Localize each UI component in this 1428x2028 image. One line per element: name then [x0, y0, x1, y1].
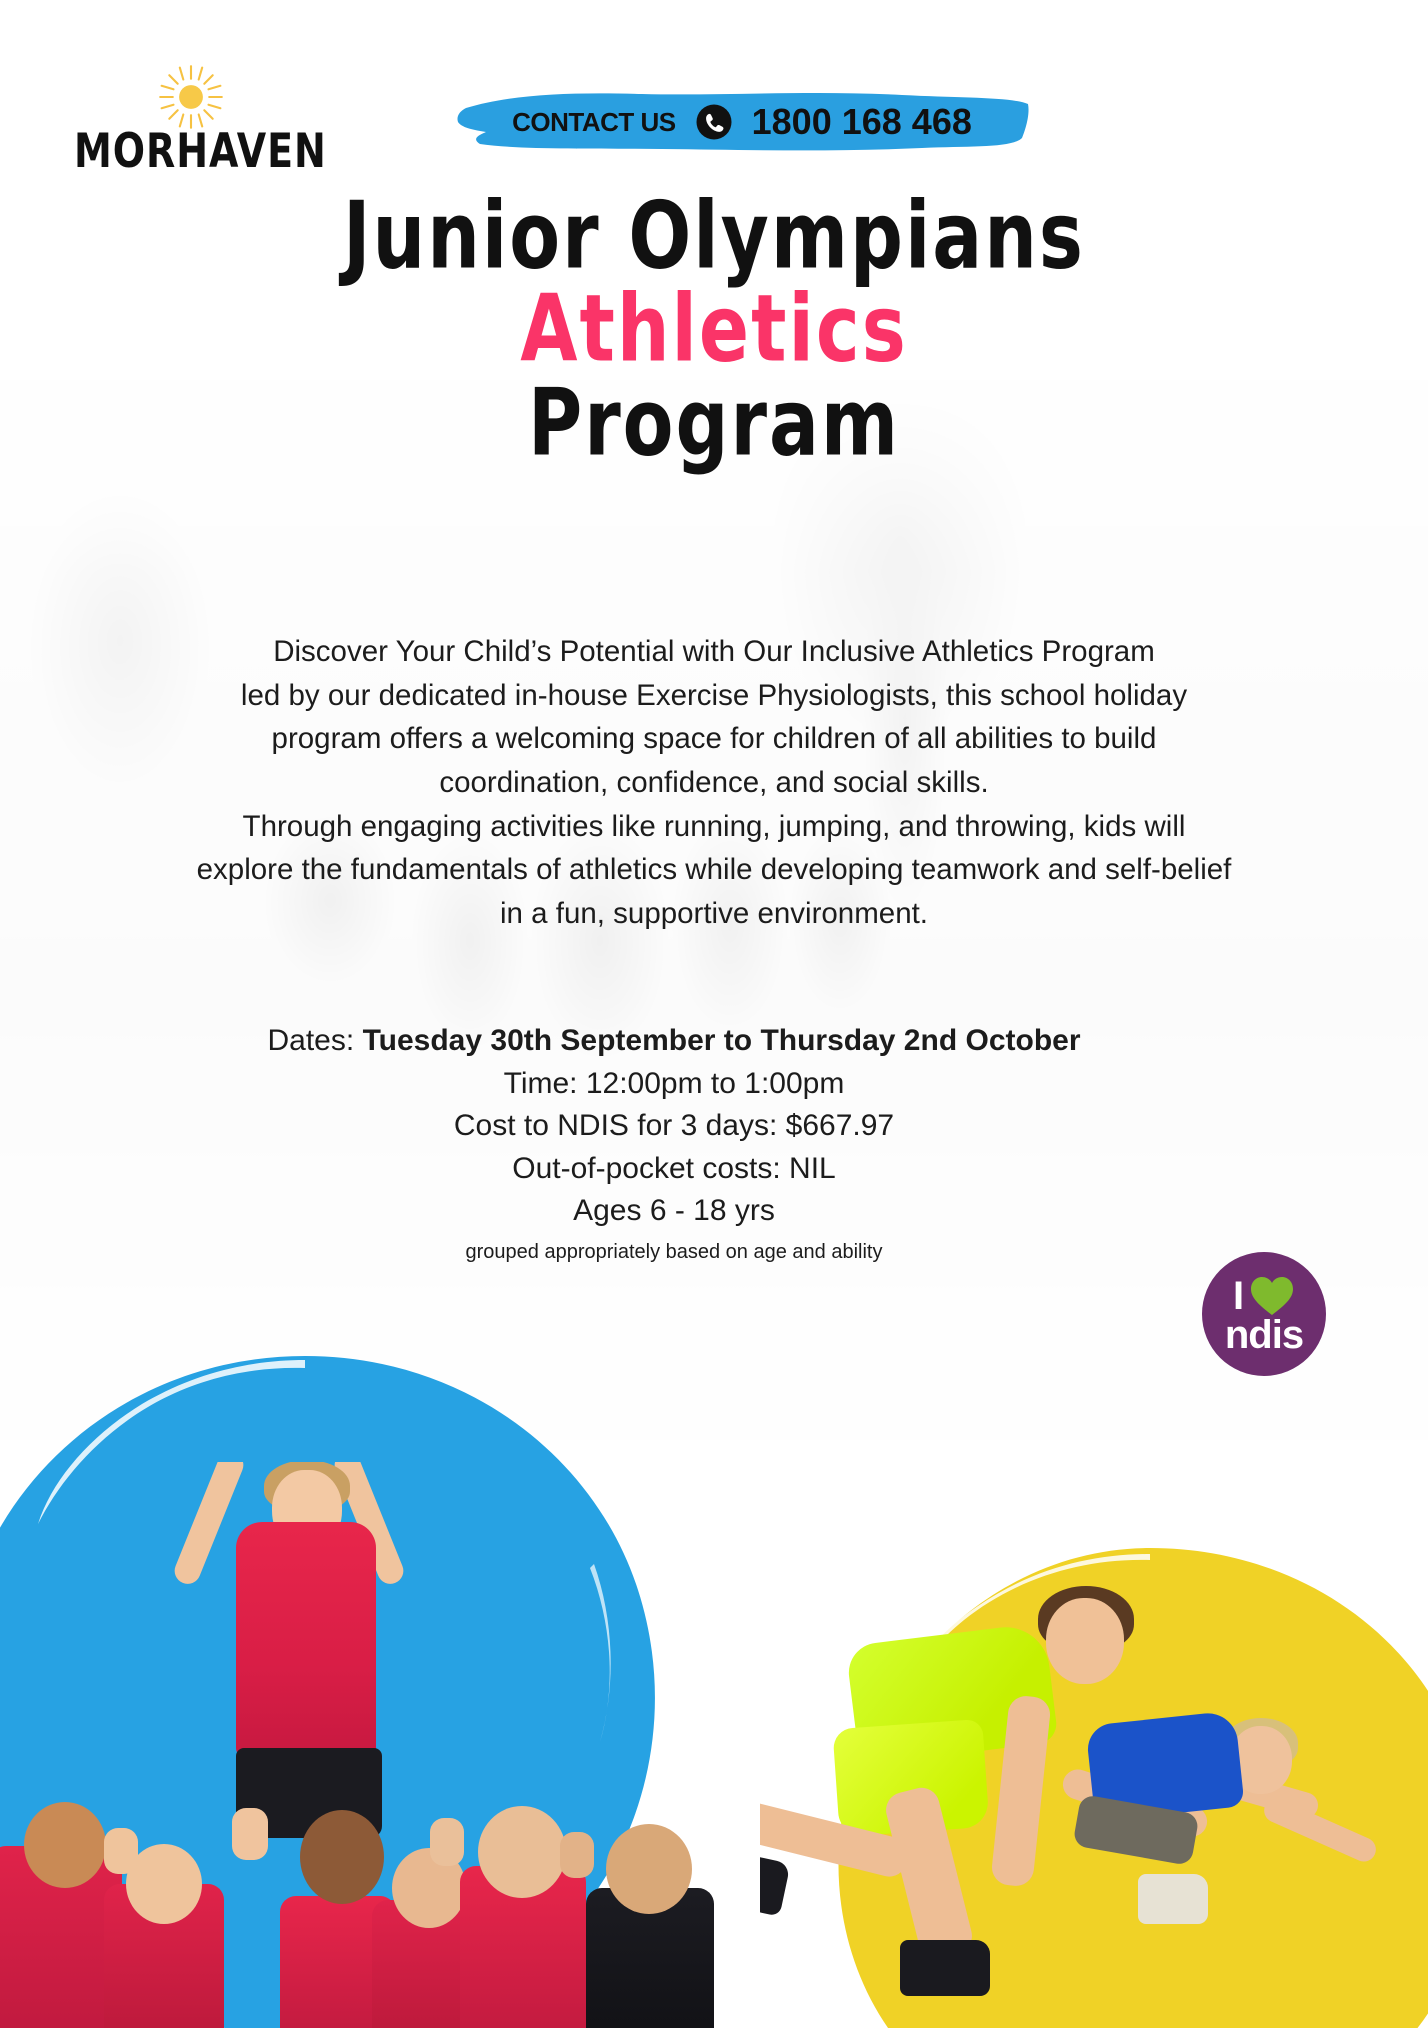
detail-ages-note: grouped appropriately based on age and a…: [64, 1237, 1284, 1267]
runner-arm: [1260, 1795, 1379, 1866]
dates-label: Dates:: [268, 1024, 355, 1057]
dates-value: Tuesday 30th September to Thursday 2nd O…: [363, 1024, 1081, 1057]
raised-fist: [430, 1818, 464, 1866]
runner-shoe: [900, 1940, 990, 1996]
runner-1-head: [1046, 1598, 1124, 1684]
detail-time: Time: 12:00pm to 1:00pm: [64, 1063, 1284, 1106]
description-line: in a fun, supportive environment.: [64, 892, 1364, 936]
children-celebrating-photo: [0, 1462, 720, 2028]
runner-shoe: [760, 1845, 791, 1916]
title-line-2: Athletics: [0, 283, 1428, 377]
runner-shoe: [1138, 1874, 1208, 1924]
kids-sprint-start-photo: [760, 1488, 1428, 2028]
contact-banner[interactable]: CONTACT US 1800 168 468: [452, 88, 1032, 154]
girl-red-jersey: [236, 1522, 376, 1758]
flyer-page: MORHAVEN CONTACT US 1800 168 468 Junior …: [0, 0, 1428, 2028]
ndis-i-letter: I: [1233, 1280, 1244, 1312]
crowd-of-children: [0, 1792, 720, 2028]
crowd-kid-head: [300, 1810, 384, 1904]
description-line: explore the fundamentals of athletics wh…: [64, 848, 1364, 892]
detail-ages: Ages 6 - 18 yrs: [64, 1190, 1284, 1233]
detail-dates: Dates: Tuesday 30th September to Thursda…: [64, 1020, 1284, 1063]
phone-icon: [694, 102, 734, 142]
program-details: Dates: Tuesday 30th September to Thursda…: [64, 1020, 1284, 1267]
raised-fist: [560, 1832, 594, 1878]
raised-fist: [232, 1808, 268, 1860]
description-line: coordination, confidence, and social ski…: [64, 761, 1364, 805]
description-paragraph: Discover Your Child’s Potential with Our…: [64, 630, 1364, 936]
page-title: Junior Olympians Athletics Program: [0, 190, 1428, 452]
description-line: Through engaging activities like running…: [64, 805, 1364, 849]
description-line: program offers a welcoming space for chi…: [64, 717, 1364, 761]
title-line-3: Program: [0, 377, 1428, 471]
brand-logo: MORHAVEN: [70, 62, 330, 168]
crowd-kid-head: [478, 1806, 566, 1898]
brand-name: MORHAVEN: [74, 128, 327, 175]
description-line: led by our dedicated in-house Exercise P…: [64, 674, 1364, 718]
detail-cost-ndis: Cost to NDIS for 3 days: $667.97: [64, 1105, 1284, 1148]
sun-icon: [156, 62, 226, 132]
raised-fist: [104, 1828, 138, 1874]
detail-out-of-pocket: Out-of-pocket costs: NIL: [64, 1148, 1284, 1191]
crowd-kid-head: [24, 1802, 106, 1888]
contact-phone-number[interactable]: 1800 168 468: [752, 101, 972, 143]
title-line-1: Junior Olympians: [0, 190, 1428, 284]
heart-icon: [1249, 1275, 1295, 1317]
crowd-kid-head: [606, 1824, 692, 1914]
bottom-collage: [0, 1338, 1428, 2028]
ndis-badge-top: I: [1233, 1275, 1295, 1317]
contact-label: CONTACT US: [512, 107, 676, 138]
description-line: Discover Your Child’s Potential with Our…: [64, 630, 1364, 674]
